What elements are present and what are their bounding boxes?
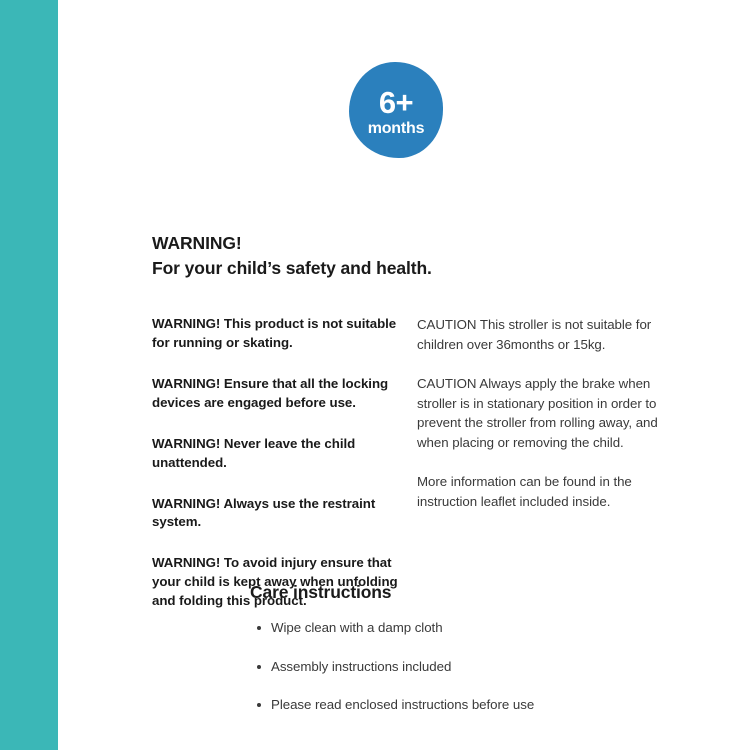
age-badge: 6+ months: [349, 62, 443, 158]
age-badge-age-value: 6+: [379, 87, 413, 118]
bullet-icon: [257, 626, 261, 630]
page-title: WARNING! For your child’s safety and hea…: [152, 231, 572, 281]
warning-item: WARNING! Always use the restraint system…: [152, 495, 410, 533]
age-badge-unit-label: months: [368, 121, 425, 137]
warning-item: WARNING! Ensure that all the locking dev…: [152, 375, 410, 413]
care-instructions-list: Wipe clean with a damp cloth Assembly in…: [250, 619, 670, 715]
headline-line-2: For your child’s safety and health.: [152, 256, 572, 281]
warning-item: WARNING! Never leave the child unattende…: [152, 435, 410, 473]
warning-item: WARNING! This product is not suitable fo…: [152, 315, 410, 353]
more-information-note: More information can be found in the ins…: [417, 472, 685, 512]
bullet-icon: [257, 703, 261, 707]
label-content-area: 6+ months WARNING! For your child’s safe…: [58, 0, 750, 750]
cautions-column: CAUTION This stroller is not suitable fo…: [417, 302, 685, 512]
left-accent-bar: [0, 0, 58, 750]
list-item-label: Assembly instructions included: [271, 659, 451, 674]
list-item: Assembly instructions included: [250, 658, 670, 677]
caution-item: CAUTION Always apply the brake when stro…: [417, 374, 685, 453]
list-item-label: Please read enclosed instructions before…: [271, 697, 534, 712]
care-instructions-title: Care instructions: [250, 582, 670, 603]
age-badge-text: 6+ months: [349, 62, 443, 158]
warnings-column: WARNING! This product is not suitable fo…: [152, 302, 410, 611]
care-instructions-section: Care instructions Wipe clean with a damp…: [250, 582, 670, 715]
list-item: Wipe clean with a damp cloth: [250, 619, 670, 638]
headline-line-1: WARNING!: [152, 231, 572, 256]
list-item-label: Wipe clean with a damp cloth: [271, 620, 443, 635]
bullet-icon: [257, 665, 261, 669]
caution-item: CAUTION This stroller is not suitable fo…: [417, 315, 685, 355]
list-item: Please read enclosed instructions before…: [250, 696, 670, 715]
